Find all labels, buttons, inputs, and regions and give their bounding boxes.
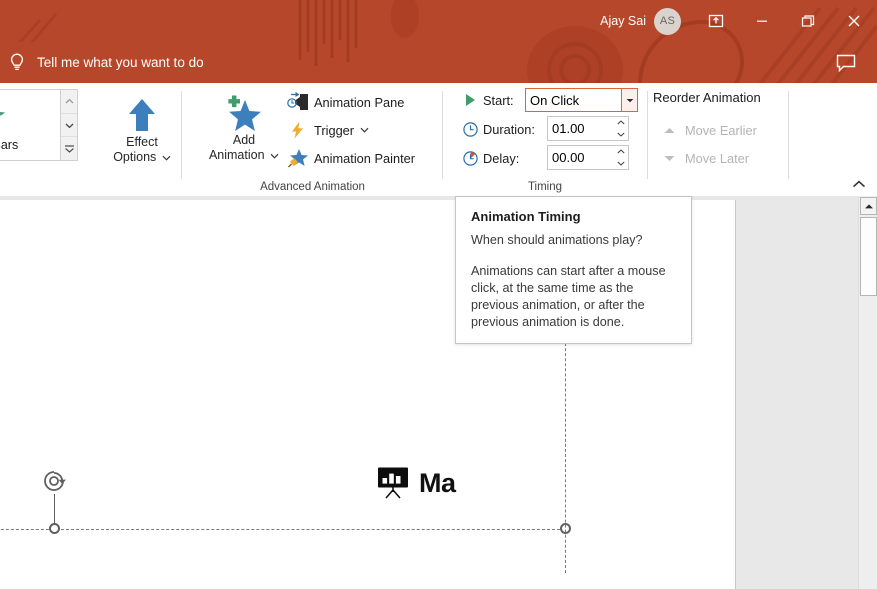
scroll-up-button[interactable] <box>860 197 877 215</box>
gallery-item-label: ndom Bars <box>0 138 18 152</box>
play-triangle-icon <box>459 89 481 111</box>
start-combobox[interactable]: On Click <box>525 88 638 112</box>
gallery-scrollbar[interactable] <box>60 90 77 160</box>
avatar[interactable]: AS <box>654 8 681 35</box>
tooltip-question: When should animations play? <box>471 233 677 247</box>
effect-options-label-line1: Effect <box>126 135 158 150</box>
animation-painter-icon <box>286 147 310 169</box>
ribbon-group-advanced-animation: Add Animation Animation Pane <box>182 83 443 195</box>
selection-handle-top-right[interactable] <box>560 523 571 534</box>
start-label: Start: <box>481 93 514 108</box>
restore-button[interactable] <box>785 0 831 42</box>
duration-label: Duration: <box>481 122 535 137</box>
duration-spinner[interactable]: 01.00 <box>547 116 629 141</box>
add-animation-label-line2: Animation <box>209 148 279 163</box>
trigger-button[interactable]: Trigger <box>286 117 369 143</box>
scroll-up-icon <box>864 203 874 210</box>
effect-options-button[interactable]: Effect Options <box>105 95 179 165</box>
move-earlier-button[interactable]: Move Earlier <box>657 117 757 143</box>
chevron-down-icon <box>617 132 625 137</box>
clock-icon <box>459 118 481 140</box>
chevron-up-icon <box>617 120 625 125</box>
tooltip-body: Animations can start after a mouse click… <box>471 263 677 331</box>
title-bar: Ajay Sai AS <box>0 0 877 42</box>
random-bars-star-icon <box>0 98 8 136</box>
chevron-down-icon <box>617 161 625 166</box>
down-triangle-icon <box>657 147 681 169</box>
chevron-down-icon <box>65 122 74 129</box>
start-value: On Click <box>526 89 621 111</box>
move-earlier-label: Move Earlier <box>681 123 757 138</box>
delay-spin-down[interactable] <box>613 158 628 170</box>
delay-clock-icon <box>459 147 481 169</box>
close-button[interactable] <box>831 0 877 42</box>
add-animation-star-icon <box>223 93 265 133</box>
ribbon-display-options-icon <box>708 13 724 29</box>
trigger-label: Trigger <box>310 123 354 138</box>
animation-timing-tooltip: Animation Timing When should animations … <box>455 196 692 344</box>
duration-row: Duration: <box>459 117 535 141</box>
vertical-scrollbar[interactable] <box>858 196 877 589</box>
delay-spin-arrows[interactable] <box>613 146 628 169</box>
move-later-label: Move Later <box>681 151 749 166</box>
slide-logo[interactable]: Ma <box>375 465 456 501</box>
ribbon-group-animation: ndom Bars <box>0 83 182 195</box>
group-separator <box>788 91 789 179</box>
duration-spin-up[interactable] <box>613 117 628 129</box>
delay-label: Delay: <box>481 151 519 166</box>
restore-icon <box>800 13 816 29</box>
account-name[interactable]: Ajay Sai <box>600 14 654 28</box>
chevron-down-icon <box>270 153 279 159</box>
minimize-icon <box>754 13 770 29</box>
gallery-scroll-up-button[interactable] <box>61 90 77 114</box>
close-icon <box>845 12 863 30</box>
start-dropdown-arrow[interactable] <box>621 89 637 111</box>
trigger-lightning-icon <box>286 119 310 141</box>
chevron-down-icon <box>360 127 369 133</box>
gallery-more-icon <box>64 144 75 154</box>
gallery-more-button[interactable] <box>61 137 77 160</box>
chevron-up-icon <box>65 98 74 105</box>
minimize-button[interactable] <box>739 0 785 42</box>
effect-options-label-line2: Options <box>113 150 171 165</box>
gallery-scroll-down-button[interactable] <box>61 114 77 138</box>
start-row: Start: <box>459 88 514 112</box>
rotate-icon <box>41 468 69 496</box>
chevron-down-icon <box>626 98 634 103</box>
add-animation-label-line1: Add <box>233 133 255 148</box>
move-later-button[interactable]: Move Later <box>657 145 749 171</box>
tooltip-title: Animation Timing <box>471 209 677 224</box>
scrollbar-thumb[interactable] <box>860 217 877 296</box>
chevron-up-icon <box>617 149 625 154</box>
title-bar-right-controls: Ajay Sai AS <box>600 0 877 42</box>
slide-work-area: Ma ntations in Seconds with AI <box>0 196 877 589</box>
tell-me-placeholder: Tell me what you want to do <box>28 55 204 70</box>
advanced-animation-group-label: Advanced Animation <box>182 181 443 193</box>
delay-spin-up[interactable] <box>613 146 628 158</box>
delay-row: Delay: <box>459 146 519 170</box>
ribbon-group-timing: Start: On Click Duration: 01.00 <box>443 83 789 195</box>
powerpoint-window: Ajay Sai AS <box>0 0 877 589</box>
animation-painter-label: Animation Painter <box>310 151 415 166</box>
duration-value[interactable]: 01.00 <box>548 117 613 140</box>
delay-spinner[interactable]: 00.00 <box>547 145 629 170</box>
tell-me-search[interactable]: Tell me what you want to do <box>6 42 204 83</box>
tell-me-bar: Tell me what you want to do <box>0 42 877 83</box>
chevron-down-icon <box>162 155 171 161</box>
timing-group-label: Timing <box>443 181 647 193</box>
up-triangle-icon <box>657 119 681 141</box>
reorder-animation-title: Reorder Animation <box>653 90 761 105</box>
collapse-ribbon-button[interactable] <box>845 174 873 194</box>
slide-logo-text: Ma <box>411 468 456 499</box>
ribbon-display-options-button[interactable] <box>693 0 739 42</box>
up-arrow-icon <box>124 95 160 135</box>
duration-spin-down[interactable] <box>613 129 628 141</box>
comment-icon <box>835 52 857 74</box>
rotation-handle[interactable] <box>41 468 69 496</box>
delay-value[interactable]: 00.00 <box>548 146 613 169</box>
comments-button[interactable] <box>825 42 867 83</box>
animation-painter-button[interactable]: Animation Painter <box>286 145 415 171</box>
ribbon: ndom Bars <box>0 83 877 197</box>
lightbulb-icon <box>6 51 28 75</box>
chevron-up-icon <box>852 180 866 189</box>
animation-pane-icon <box>286 91 310 113</box>
gallery-item-random-bars[interactable]: ndom Bars <box>0 90 53 160</box>
duration-spin-arrows[interactable] <box>613 117 628 140</box>
animation-gallery[interactable]: ndom Bars <box>0 89 78 161</box>
add-animation-button[interactable]: Add Animation <box>194 93 294 163</box>
timing-inner-separator <box>647 91 648 179</box>
animation-pane-label: Animation Pane <box>310 95 404 110</box>
animation-pane-button[interactable]: Animation Pane <box>286 89 404 115</box>
presentation-easel-icon <box>375 465 411 501</box>
selection-handle-top-left[interactable] <box>49 523 60 534</box>
